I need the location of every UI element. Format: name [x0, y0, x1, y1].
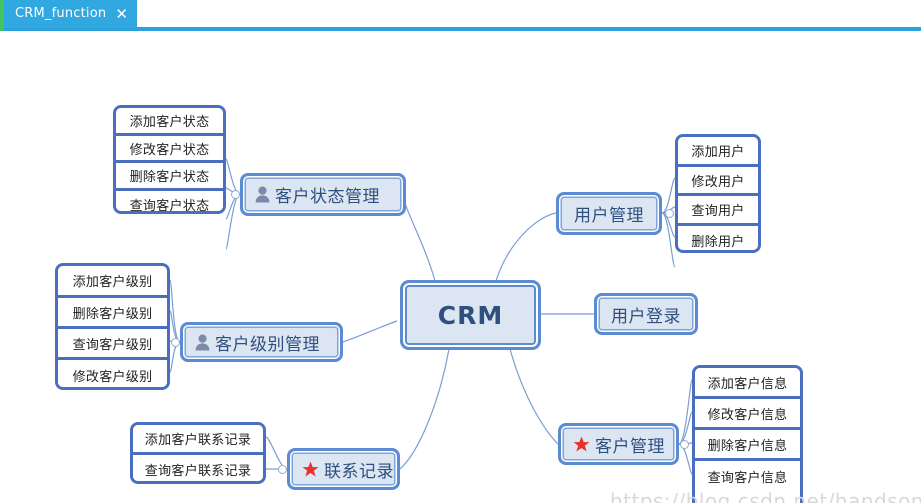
leaf-node[interactable]: 查询客户状态 [116, 191, 223, 214]
star-icon [573, 436, 590, 453]
leaf-node[interactable]: 添加客户信息 [695, 368, 800, 399]
leaf-node[interactable]: 添加用户 [678, 137, 758, 167]
leaf-node-label: 修改客户信息 [708, 404, 788, 423]
tab-label: CRM_function [15, 0, 106, 28]
leaf-node-label: 查询用户 [691, 200, 744, 219]
collapse-toggle-contact-record[interactable] [278, 465, 287, 474]
collapse-toggle-customer-management[interactable] [680, 440, 689, 449]
leaf-node-label: 修改用户 [691, 171, 744, 190]
leaf-node[interactable]: 修改用户 [678, 167, 758, 196]
leaf-node[interactable]: 查询客户联系记录 [133, 455, 263, 484]
mindmap-canvas[interactable]: CRM 客户状态管理 添加客户状态 修改客户状态 删除客户状态 查询客户状态 用… [0, 31, 921, 503]
leaf-group-contact-record: 添加客户联系记录 查询客户联系记录 [130, 422, 266, 484]
tab-crm-function[interactable]: CRM_function ✕ [4, 0, 137, 28]
leaf-group-customer-status-management: 添加客户状态 修改客户状态 删除客户状态 查询客户状态 [113, 105, 226, 214]
watermark: https://blog.csdn.net/handsomepig123_ [610, 489, 921, 503]
left-accent-strip [0, 0, 4, 31]
leaf-node[interactable]: 删除客户级别 [58, 298, 167, 329]
star-icon [302, 461, 319, 478]
person-icon [255, 186, 270, 203]
branch-node-label: 客户管理 [595, 432, 665, 457]
leaf-node-label: 查询客户状态 [130, 195, 210, 214]
leaf-node-label: 修改客户级别 [73, 366, 153, 385]
leaf-node-label: 查询客户级别 [73, 334, 153, 353]
branch-node-label: 用户管理 [574, 201, 644, 226]
leaf-node-label: 查询客户联系记录 [145, 460, 251, 479]
close-icon[interactable]: ✕ [115, 0, 128, 28]
leaf-node[interactable]: 查询客户级别 [58, 329, 167, 360]
leaf-node[interactable]: 添加客户级别 [58, 266, 167, 298]
branch-node-label: 用户登录 [611, 302, 681, 327]
leaf-node[interactable]: 添加客户联系记录 [133, 425, 263, 455]
leaf-node-label: 添加客户联系记录 [145, 429, 251, 448]
branch-node-contact-record[interactable]: 联系记录 [287, 448, 400, 490]
leaf-node-label: 添加客户状态 [130, 111, 210, 130]
branch-node-label: 客户状态管理 [275, 182, 380, 207]
leaf-node[interactable]: 修改客户级别 [58, 360, 167, 390]
leaf-group-customer-level-management: 添加客户级别 删除客户级别 查询客户级别 修改客户级别 [55, 263, 170, 390]
leaf-node-label: 删除客户状态 [130, 166, 210, 185]
branch-node-customer-management[interactable]: 客户管理 [558, 423, 679, 465]
leaf-node-label: 删除客户信息 [708, 435, 788, 454]
leaf-node-label: 添加用户 [691, 141, 744, 160]
leaf-node[interactable]: 删除用户 [678, 226, 758, 253]
collapse-toggle-user-management[interactable] [665, 209, 674, 218]
leaf-node-label: 删除用户 [691, 231, 744, 250]
branch-node-user-management[interactable]: 用户管理 [556, 192, 662, 235]
branch-node-label: 联系记录 [324, 457, 394, 482]
branch-node-user-login[interactable]: 用户登录 [594, 293, 698, 335]
branch-node-customer-status-management[interactable]: 客户状态管理 [240, 173, 406, 216]
branch-node-customer-level-management[interactable]: 客户级别管理 [180, 322, 343, 362]
leaf-node-label: 查询客户信息 [708, 467, 788, 486]
tab-bar: CRM_function ✕ [0, 0, 921, 31]
leaf-node-label: 添加客户信息 [708, 373, 788, 392]
leaf-node[interactable]: 修改客户信息 [695, 399, 800, 430]
leaf-node[interactable]: 查询用户 [678, 196, 758, 226]
collapse-toggle-customer-status[interactable] [231, 190, 240, 199]
leaf-node[interactable]: 删除客户状态 [116, 163, 223, 191]
leaf-node[interactable]: 修改客户状态 [116, 136, 223, 163]
leaf-node[interactable]: 添加客户状态 [116, 108, 223, 136]
leaf-node[interactable]: 删除客户信息 [695, 430, 800, 461]
leaf-group-customer-management: 添加客户信息 修改客户信息 删除客户信息 查询客户信息 [692, 365, 803, 503]
root-node-label: CRM [438, 301, 503, 330]
leaf-node-label: 添加客户级别 [73, 271, 153, 290]
branch-node-label: 客户级别管理 [215, 330, 320, 355]
person-icon [195, 334, 210, 351]
leaf-node-label: 删除客户级别 [73, 303, 153, 322]
collapse-toggle-customer-level[interactable] [171, 338, 180, 347]
leaf-node-label: 修改客户状态 [130, 139, 210, 158]
leaf-group-user-management: 添加用户 修改用户 查询用户 删除用户 [675, 134, 761, 253]
root-node-crm[interactable]: CRM [400, 280, 541, 350]
